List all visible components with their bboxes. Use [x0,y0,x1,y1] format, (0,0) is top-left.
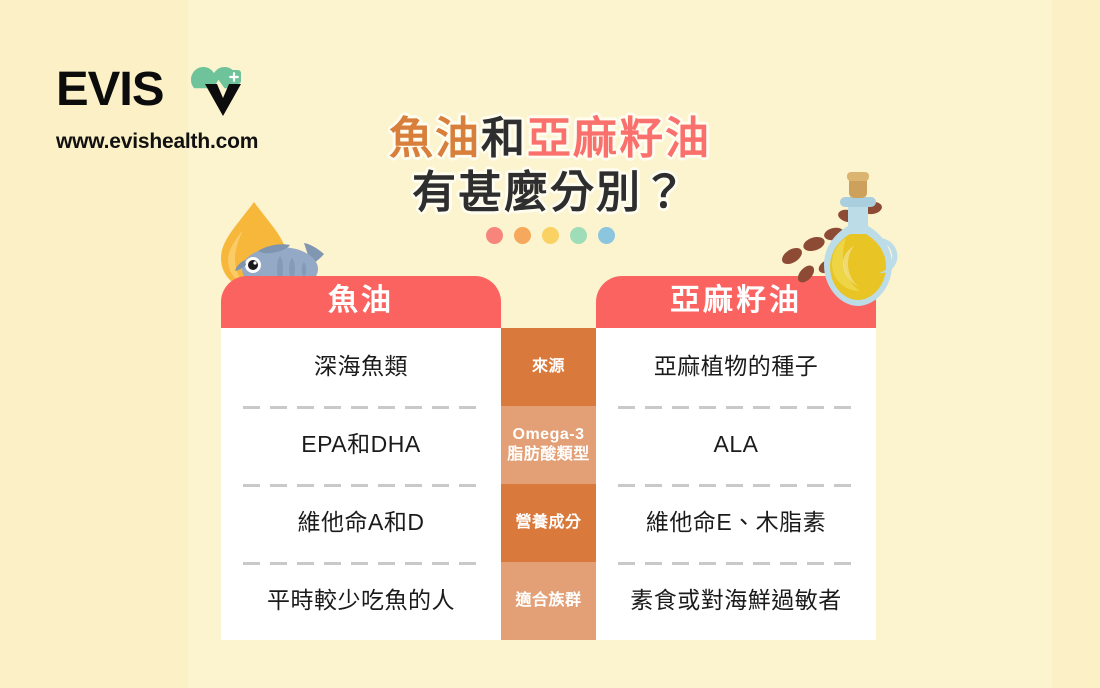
table-cell: 維他命E、木脂素 [606,484,866,562]
heart-v-plus-icon [183,62,255,118]
column-header-fish-oil: 魚油 [221,276,501,328]
title-part-flaxseed-oil: 亞麻籽油 [527,114,711,163]
cell-text: 亞麻植物的種子 [654,353,819,381]
cell-text: 維他命A和D [298,509,425,537]
column-header-label: 魚油 [328,286,394,318]
cell-text: 素食或對海鮮過敏者 [630,587,842,615]
dot-1 [486,227,503,244]
criteria-label-omega3-text: Omega-3 脂肪酸類型 [507,425,590,465]
column-criteria-labels: 來源 Omega-3 脂肪酸類型 營養成分 適合族群 [501,328,596,640]
criteria-label-omega3-line2: 脂肪酸類型 [507,446,590,463]
table-cell: 亞麻植物的種子 [606,328,866,406]
dot-5 [598,227,615,244]
infographic-canvas: EVIS www.evishealth.com 魚油和亞麻籽油 有甚麼分別？ [0,0,1100,688]
comparison-table: 魚油 深海魚類 EPA和DHA 維他命A和D 平時較少吃魚的人 亞麻籽油 亞麻植… [221,276,876,640]
table-cell: 維他命A和D [231,484,491,562]
brand-logo-block: EVIS www.evishealth.com [56,62,316,154]
cell-text: 維他命E、木脂素 [646,509,826,537]
dot-2 [514,227,531,244]
column-body-fish-oil: 深海魚類 EPA和DHA 維他命A和D 平時較少吃魚的人 [221,328,501,640]
criteria-label-source: 來源 [501,328,596,406]
title-part-fish-oil: 魚油 [389,114,481,163]
table-cell: 深海魚類 [231,328,491,406]
table-cell: 平時較少吃魚的人 [231,562,491,640]
brand-website-url: www.evishealth.com [56,130,316,154]
criteria-label-audience: 適合族群 [501,562,596,640]
cell-text: ALA [714,431,759,459]
column-flaxseed-oil: 亞麻籽油 亞麻植物的種子 ALA 維他命E、木脂素 素食或對海鮮過敏者 [596,276,876,640]
column-body-flaxseed-oil: 亞麻植物的種子 ALA 維他命E、木脂素 素食或對海鮮過敏者 [596,328,876,640]
cell-text: 深海魚類 [314,353,408,381]
title-line-1: 魚油和亞麻籽油 [300,112,800,166]
decorative-dot-row [300,227,800,244]
table-cell: EPA和DHA [231,406,491,484]
column-header-label: 亞麻籽油 [670,286,802,318]
title-part-and: 和 [481,114,527,163]
table-cell: 素食或對海鮮過敏者 [606,562,866,640]
table-cell: ALA [606,406,866,484]
dot-3 [542,227,559,244]
criteria-label-omega3-line1: Omega-3 [513,426,585,443]
column-fish-oil: 魚油 深海魚類 EPA和DHA 維他命A和D 平時較少吃魚的人 [221,276,501,640]
dot-4 [570,227,587,244]
cell-text: 平時較少吃魚的人 [267,587,455,615]
background-band-right [1052,0,1100,688]
brand-wordmark: EVIS [56,66,163,114]
criteria-label-omega3: Omega-3 脂肪酸類型 [501,406,596,484]
title-line-2: 有甚麼分別？ [300,166,800,220]
page-title: 魚油和亞麻籽油 有甚麼分別？ [300,112,800,244]
logo-row: EVIS [56,62,316,118]
cell-text: EPA和DHA [301,431,420,459]
column-header-flaxseed-oil: 亞麻籽油 [596,276,876,328]
criteria-label-nutrients: 營養成分 [501,484,596,562]
